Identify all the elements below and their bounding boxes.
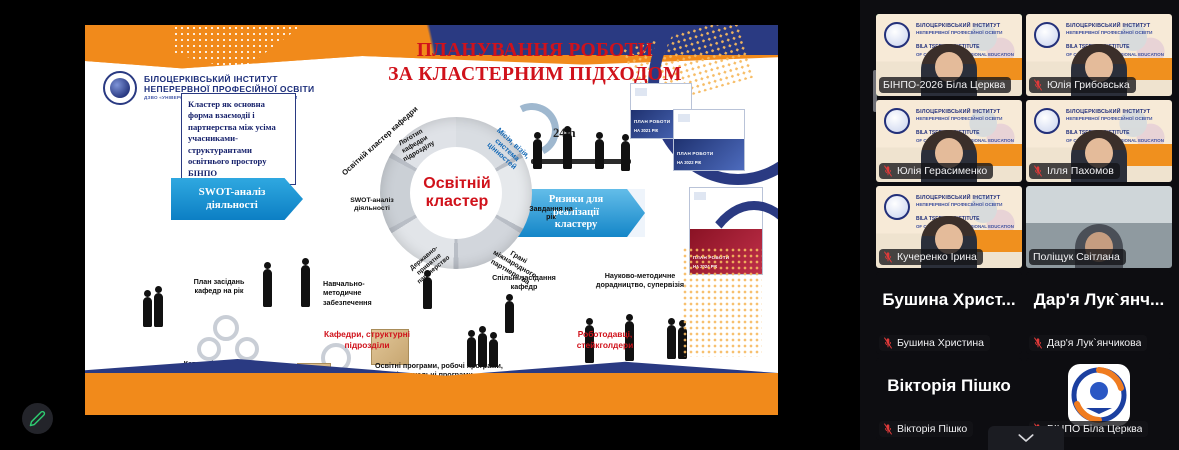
- conference-window: БІЛОЦЕРКІВСЬКИЙ ІНСТИТУТ НЕПЕРЕРВНОЇ ПРО…: [0, 0, 1179, 450]
- banner-swot: SWOT-аналіз діяльності: [171, 178, 303, 220]
- mic-muted-icon: [883, 165, 893, 177]
- participant-name-tag: Вікторія Пішко: [879, 421, 973, 437]
- wheel-spoke-3: Завдання на рік: [527, 206, 575, 223]
- shared-slide[interactable]: БІЛОЦЕРКІВСЬКИЙ ІНСТИТУТ НЕПЕРЕРВНОЇ ПРО…: [85, 25, 778, 415]
- participant-name-label: Бушина Христина: [897, 337, 984, 349]
- backdrop-logo-icon: [884, 108, 910, 134]
- meeting-table-illustration: [517, 125, 645, 181]
- mic-muted-icon: [1033, 165, 1043, 177]
- label-departments: Кафедри, структурні підрозділи: [315, 329, 419, 351]
- participant-name-tag: Дар'я Лук`янчикова: [1029, 335, 1147, 351]
- mic-muted-icon: [1033, 79, 1043, 91]
- mic-muted-icon: [883, 251, 893, 263]
- chevron-down-icon: [1017, 433, 1035, 443]
- slide-title-line1: ПЛАНУВАННЯ РОБОТИ: [325, 39, 745, 63]
- gear-icon-2: [197, 337, 221, 361]
- participant-display-name: Бушина Христ...: [876, 290, 1022, 310]
- plan-cover-2022-year: НА 2022 РІК: [677, 160, 701, 165]
- participant-name-label: Дар'я Лук`янчикова: [1047, 337, 1141, 349]
- mic-muted-icon: [1033, 337, 1043, 349]
- participant-name-tag: Юлія Герасименко: [879, 163, 993, 179]
- participant-name-label: Кучеренко Ірина: [897, 251, 977, 263]
- person-silhouette-2: [301, 265, 310, 307]
- participant-tile[interactable]: Дар'я Лук`янч... Дар'я Лук`янчикова: [1026, 272, 1172, 354]
- scroll-down-button[interactable]: [988, 426, 1064, 450]
- participant-tile[interactable]: Бушина Христ... Бушина Христина: [876, 272, 1022, 354]
- people-group-left: [143, 293, 163, 327]
- banner-swot-line1: SWOT-аналіз: [199, 186, 266, 198]
- wheel-center-label: Освітній кластер: [397, 175, 517, 211]
- annotate-button[interactable]: [22, 403, 53, 434]
- participant-display-name: Дар'я Лук`янч...: [1026, 290, 1172, 310]
- gear-icon-1: [213, 315, 239, 341]
- label-method-support: Навчально-методичне забезпечення: [323, 279, 393, 307]
- participant-tile[interactable]: Поліщук Світлана: [1026, 186, 1172, 268]
- participant-name-tag: Юлія Грибовська: [1029, 77, 1136, 93]
- wheel-spoke-6: SWOT-аналіз діяльності: [347, 197, 397, 213]
- backdrop-logo-icon: [884, 194, 910, 220]
- participant-name-label: Юлія Грибовська: [1047, 79, 1130, 91]
- participant-tiles: БІЛОЦЕРКІВСЬКИЙ ІНСТИТУТ НЕПЕРЕРВНОЇ ПРО…: [876, 14, 1172, 440]
- shared-screen-region[interactable]: БІЛОЦЕРКІВСЬКИЙ ІНСТИТУТ НЕПЕРЕРВНОЇ ПРО…: [0, 0, 860, 450]
- participant-tile[interactable]: БІЛОЦЕРКІВСЬКИЙ ІНСТИТУТ НЕПЕРЕРВНОЇ ПРО…: [1026, 14, 1172, 96]
- backdrop-logo-icon: [1034, 22, 1060, 48]
- participant-name-tag: Поліщук Світлана: [1029, 249, 1126, 265]
- backdrop-logo-icon: [1034, 108, 1060, 134]
- mic-muted-icon: [883, 423, 893, 435]
- participant-name-label: Вікторія Пішко: [897, 423, 967, 435]
- presentation-slide: БІЛОЦЕРКІВСЬКИЙ ІНСТИТУТ НЕПЕРЕРВНОЇ ПРО…: [85, 25, 778, 415]
- participant-name-tag: Кучеренко Ірина: [879, 249, 983, 265]
- slide-title: ПЛАНУВАННЯ РОБОТИ ЗА КЛАСТЕРНИМ ПІДХОДОМ: [325, 39, 745, 87]
- gear-icon-3: [235, 337, 259, 361]
- participant-display-name: Вікторія Пішко: [876, 376, 1022, 396]
- plan-cover-2022: ПЛАН РОБОТИ НА 2022 РІК: [673, 109, 745, 171]
- participant-tile[interactable]: БІЛОЦЕРКІВСЬКИЙ ІНСТИТУТ НЕПЕРЕРВНОЇ ПРО…: [876, 100, 1022, 182]
- participant-name-tag: Ілля Пахомов: [1029, 163, 1120, 179]
- participants-filmstrip: БІЛОЦЕРКІВСЬКИЙ ІНСТИТУТ НЕПЕРЕРВНОЇ ПРО…: [860, 0, 1179, 450]
- person-silhouette-1: [263, 269, 272, 307]
- participant-name-tag: Бушина Христина: [879, 335, 990, 351]
- pencil-icon: [29, 410, 46, 427]
- participant-tile[interactable]: БІЛОЦЕРКІВСЬКИЙ ІНСТИТУТ НЕПЕРЕРВНОЇ ПРО…: [876, 14, 1022, 96]
- backdrop-logo-icon: [884, 22, 910, 48]
- plan-cover-2021-title: ПЛАН РОБОТИ: [634, 119, 670, 124]
- banner-swot-line2: діяльності: [206, 199, 258, 211]
- plan-cover-2022-title: ПЛАН РОБОТИ: [677, 151, 713, 156]
- wheel-center-line1: Освітній: [397, 175, 517, 193]
- institute-logo-icon: [103, 71, 137, 105]
- label-plan-meetings: План засідань кафедр на рік: [181, 277, 257, 296]
- participant-name-label: Ілля Пахомов: [1047, 165, 1114, 177]
- slide-callout-box: Кластер як основна форма взаємодії і пар…: [181, 93, 296, 185]
- participant-tile[interactable]: БІЛОЦЕРКІВСЬКИЙ ІНСТИТУТ НЕПЕРЕРВНОЇ ПРО…: [876, 186, 1022, 268]
- label-employers: Роботодавці, стейкголдери: [555, 329, 655, 351]
- participant-name-tag: БІНПО-2026 Біла Церква: [879, 77, 1011, 93]
- wheel-center-line2: кластер: [397, 193, 517, 211]
- plan-cover-2021-year: НА 2021 РІК: [634, 128, 658, 133]
- banner-risk-line1: Ризики для: [549, 194, 603, 205]
- participant-avatar: [1068, 364, 1130, 426]
- participant-name-label: Юлія Герасименко: [897, 165, 987, 177]
- person-silhouette-6: [505, 301, 514, 333]
- binpo-logo-icon: [1068, 364, 1130, 426]
- participant-name-label: БІНПО-2026 Біла Церква: [883, 79, 1005, 91]
- mic-muted-icon: [883, 337, 893, 349]
- participant-name-label: Поліщук Світлана: [1033, 251, 1120, 263]
- participant-tile[interactable]: БІЛОЦЕРКІВСЬКИЙ ІНСТИТУТ НЕПЕРЕРВНОЇ ПРО…: [1026, 100, 1172, 182]
